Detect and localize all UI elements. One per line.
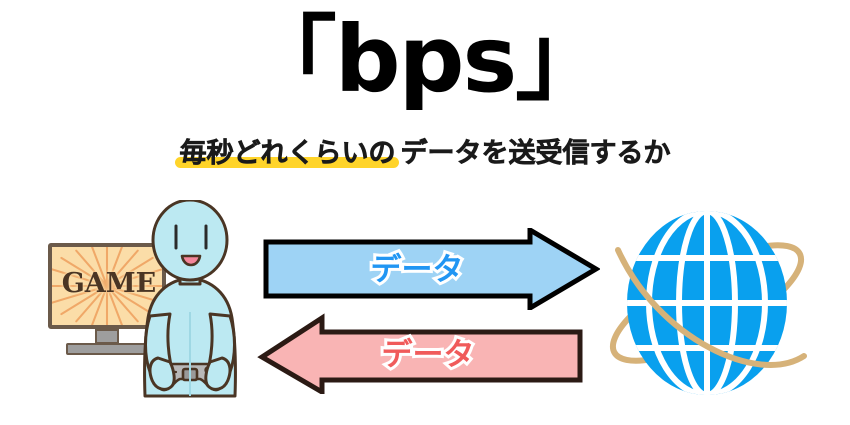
subtitle-highlight-wrapper: 毎秒どれくらいの <box>179 138 395 170</box>
globe-sphere <box>612 206 802 400</box>
subtitle-block: 毎秒どれくらいの データを送受信するか <box>0 136 850 170</box>
upload-arrow-shape <box>262 228 600 310</box>
download-arrow-shape <box>256 312 584 394</box>
download-arrow: データ <box>256 312 584 394</box>
globe-grid <box>612 206 802 400</box>
character-head <box>153 200 227 280</box>
subtitle-line-2: データを送受信するか <box>401 138 671 170</box>
internet-globe <box>598 198 816 408</box>
tv-screen-label: GAME <box>48 269 170 299</box>
infographic-canvas: 「bps」 毎秒どれくらいの データを送受信するか <box>0 0 850 425</box>
gamer-character <box>128 200 252 405</box>
tv-stand-neck <box>95 329 119 344</box>
subtitle-line-1-wrapper: 毎秒どれくらいの <box>179 138 395 170</box>
upload-arrow: データ <box>262 228 600 310</box>
page-title: 「bps」 <box>0 8 850 112</box>
subtitle-line-1: 毎秒どれくらいの <box>179 138 395 169</box>
character-mouth <box>182 256 200 265</box>
